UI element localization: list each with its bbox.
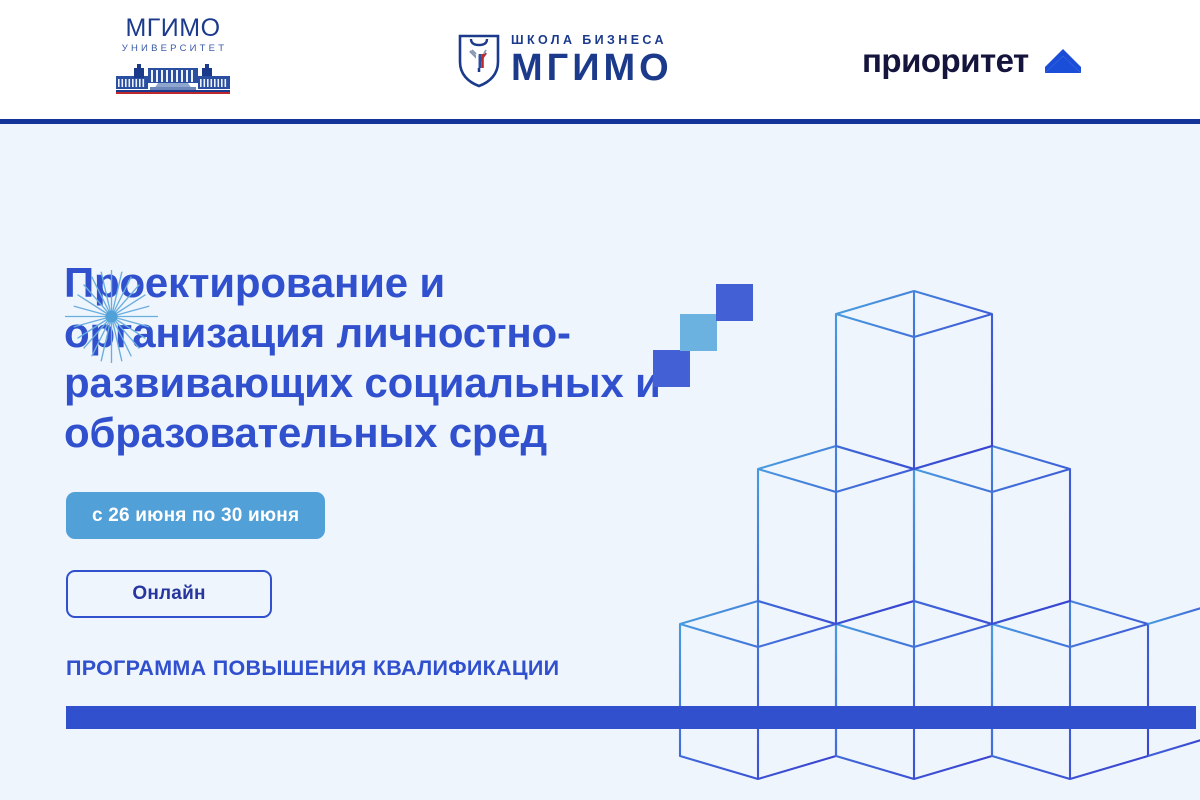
bottom-accent-bar [66, 706, 1196, 729]
header-bar: МГИМО УНИВЕРСИТЕТ [0, 0, 1200, 119]
shield-emblem-icon [457, 32, 501, 88]
logo-prioritet[interactable]: приоритет [862, 40, 1083, 82]
logo-mgimo-business-school[interactable]: ШКОЛА БИЗНЕСА МГИМО [457, 26, 707, 94]
decor-square-2 [680, 314, 717, 351]
promo-banner: МГИМО УНИВЕРСИТЕТ [0, 0, 1200, 800]
logo-mgimo-subtitle: УНИВЕРСИТЕТ [106, 42, 243, 56]
logo-school-line2: МГИМО [511, 48, 673, 88]
hero-section [0, 124, 1200, 800]
logo-mgimo-title: МГИМО [103, 14, 243, 42]
decor-square-3 [716, 284, 753, 321]
diamond-chevron-icon [1043, 47, 1083, 75]
program-type-label: ПРОГРАММА ПОВЫШЕНИЯ КВАЛИФИКАЦИИ [66, 656, 559, 681]
decor-square-1 [653, 350, 690, 387]
format-badge[interactable]: Онлайн [66, 570, 272, 618]
header-divider [0, 119, 1200, 124]
starburst-icon [63, 268, 160, 365]
page-title: Проектирование и организация личностно-р… [64, 258, 704, 458]
logo-prioritet-text: приоритет [862, 43, 1029, 79]
mgimo-building-icon [114, 60, 232, 94]
logo-school-line1: ШКОЛА БИЗНЕСА [511, 32, 673, 48]
date-badge[interactable]: с 26 июня по 30 июня [66, 492, 325, 539]
logo-mgimo-university[interactable]: МГИМО УНИВЕРСИТЕТ [103, 14, 243, 109]
